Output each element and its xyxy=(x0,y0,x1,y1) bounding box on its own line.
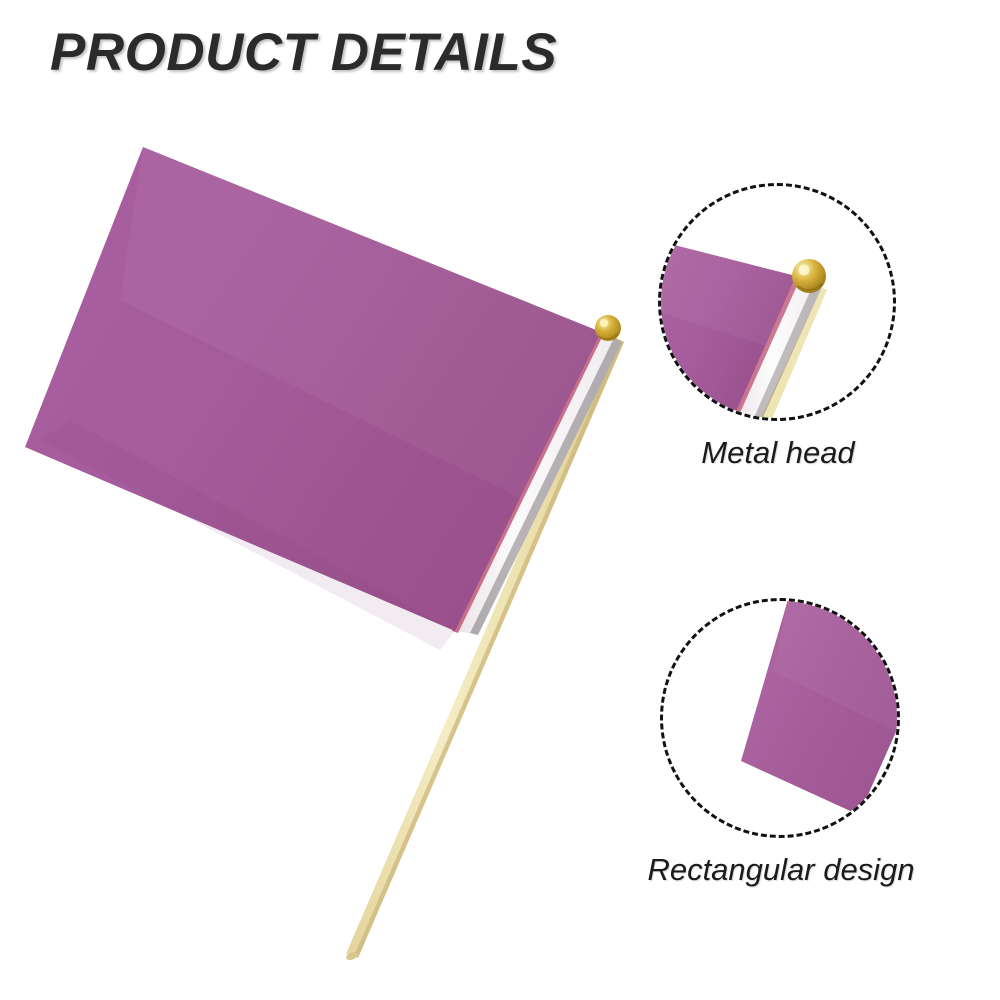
callout-label-rectangular-design: Rectangular design xyxy=(586,852,976,888)
product-hero-image xyxy=(0,90,680,1000)
metal-head-detail-art xyxy=(661,186,893,418)
product-details-page: PRODUCT DETAILS xyxy=(0,0,1000,1000)
callout-rectangular-design: Rectangular design xyxy=(660,598,904,888)
flag-illustration xyxy=(0,90,680,1000)
rectangular-corner-detail-art xyxy=(663,601,897,835)
magnifier-circle-rectangular-design xyxy=(660,598,900,838)
page-title: PRODUCT DETAILS xyxy=(50,24,557,81)
callout-label-metal-head: Metal head xyxy=(608,435,948,471)
metal-head-finial xyxy=(595,315,621,341)
magnifier-circle-metal-head xyxy=(658,183,896,421)
callout-metal-head: Metal head xyxy=(658,183,902,471)
